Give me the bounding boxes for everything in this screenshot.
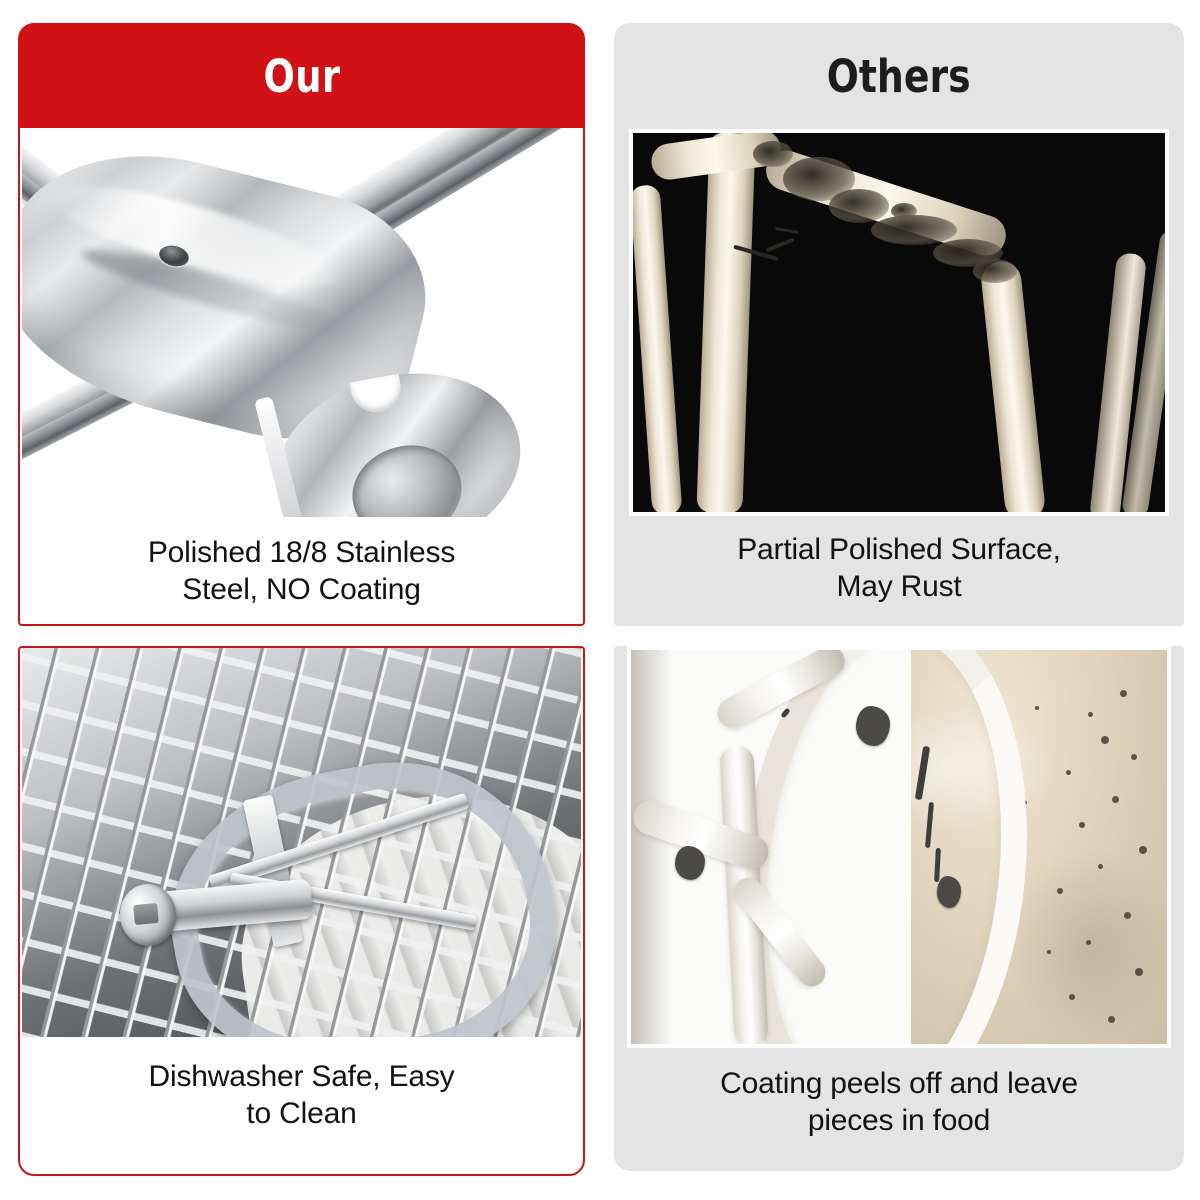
caption-line-2: Steel, NO Coating (20, 572, 583, 609)
polished-beater-illustration (22, 128, 581, 517)
peeling-coating-illustration (631, 650, 1167, 1044)
our-caption-dishwasher-safe: Dishwasher Safe, Easy to Clean (20, 1059, 583, 1132)
caption-line-1: Dishwasher Safe, Easy (20, 1059, 583, 1096)
others-photo-rust (629, 129, 1169, 516)
others-caption-coating-peels: Coating peels off and leave pieces in fo… (614, 1066, 1184, 1139)
comparison-infographic: Our (0, 0, 1200, 1200)
dishwasher-rack-illustration (22, 648, 581, 1037)
rusty-beater-illustration (633, 133, 1165, 512)
others-card-coating-peels: Coating peels off and leave pieces in fo… (614, 646, 1184, 1171)
others-header-label: Others (827, 50, 971, 103)
our-photo-dishwasher (22, 648, 581, 1037)
caption-line-2: to Clean (20, 1096, 583, 1133)
our-caption-polished-steel: Polished 18/8 Stainless Steel, NO Coatin… (20, 535, 583, 608)
others-photo-peeling (627, 646, 1171, 1048)
our-card-polished-steel: Polished 18/8 Stainless Steel, NO Coatin… (18, 128, 585, 626)
caption-line-1: Polished 18/8 Stainless (20, 535, 583, 572)
others-header-banner: Others (614, 23, 1184, 129)
our-header-label: Our (263, 50, 340, 103)
others-caption-may-rust: Partial Polished Surface, May Rust (614, 532, 1184, 605)
caption-line-1: Coating peels off and leave (614, 1066, 1184, 1103)
our-photo-polished-steel (22, 128, 581, 517)
our-header-banner: Our (18, 23, 585, 129)
caption-line-1: Partial Polished Surface, (614, 532, 1184, 569)
caption-line-2: May Rust (614, 569, 1184, 606)
others-column: Others (600, 0, 1200, 1200)
our-card-dishwasher-safe: Dishwasher Safe, Easy to Clean (18, 646, 585, 1176)
others-card-may-rust: Others (614, 23, 1184, 626)
caption-line-2: pieces in food (614, 1103, 1184, 1140)
our-column: Our (0, 0, 600, 1200)
